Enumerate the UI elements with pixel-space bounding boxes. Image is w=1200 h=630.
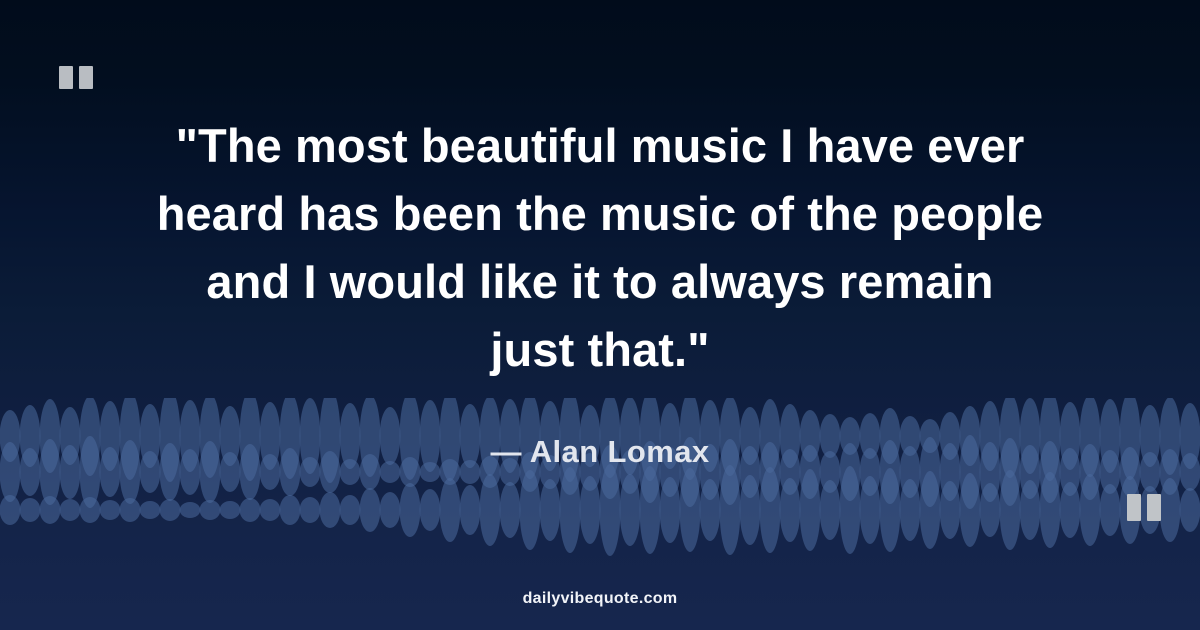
quote-block: "The most beautiful music I have ever he… <box>50 112 1150 384</box>
audio-waveform <box>0 398 1200 570</box>
quote-open-bar-right <box>79 66 93 89</box>
site-watermark: dailyvibequote.com <box>0 590 1200 608</box>
audio-waveform-icon <box>0 398 1200 570</box>
quote-text: "The most beautiful music I have ever he… <box>50 112 1150 384</box>
quote-close-bar-right <box>1147 494 1161 521</box>
quote-open-bar-left <box>59 66 73 89</box>
quote-open-icon <box>59 66 93 89</box>
quote-close-bar-left <box>1127 494 1141 521</box>
quote-attribution: — Alan Lomax <box>0 434 1200 470</box>
quote-card: "The most beautiful music I have ever he… <box>0 0 1200 630</box>
quote-close-icon <box>1127 494 1161 521</box>
